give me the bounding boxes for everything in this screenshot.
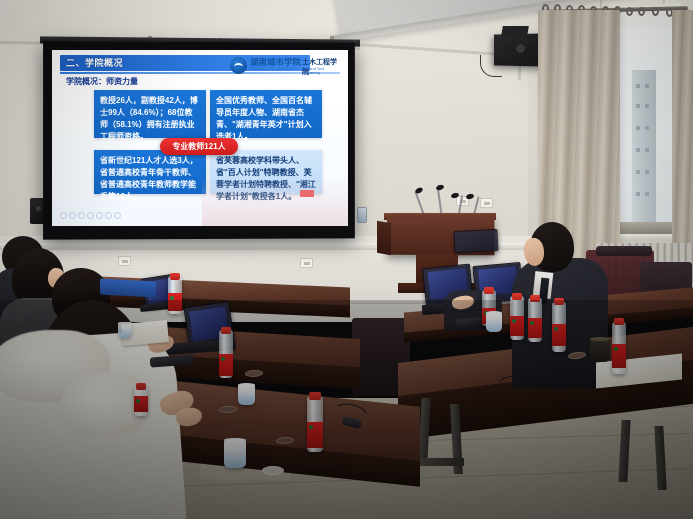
- dark-cup-rim: [590, 337, 610, 341]
- slide-block-top-right: 全国优秀教师、全国百名辅导员年度人物、湖南省杰青、"湖湘青年英才"计划入选者1人…: [210, 90, 322, 138]
- paper-cup[interactable]: [486, 312, 502, 332]
- slide-footer-icons: [60, 210, 140, 220]
- podium-side-panel: [377, 221, 391, 255]
- blue-binder[interactable]: [100, 279, 156, 298]
- bottle-label: [134, 396, 148, 412]
- paper-cup-rim: [224, 438, 246, 442]
- paper-cup[interactable]: [224, 440, 246, 468]
- bottle-cap: [512, 293, 522, 300]
- bottle-cap: [614, 318, 624, 325]
- curtain-right-panel[interactable]: [672, 10, 693, 260]
- speaker-cone-icon: [516, 44, 525, 53]
- bottle-cap: [136, 383, 146, 390]
- slide-title-tick: [185, 55, 190, 71]
- bottle-cap: [221, 327, 231, 334]
- wall-socket[interactable]: [480, 198, 493, 208]
- wall-socket[interactable]: [300, 258, 313, 268]
- bottle-label: [552, 324, 566, 346]
- slide-subtitle: 学院概况：师资力量: [66, 76, 138, 87]
- logo-name-en: HUNAN CITY UNIVERSITY: [250, 67, 299, 71]
- laptop-screen-far[interactable]: [453, 229, 498, 253]
- slide-decoration-chip: [300, 190, 314, 197]
- bottle-cap: [170, 273, 180, 280]
- university-logo: 湖南城市学院 HUNAN CITY UNIVERSITY 土木工程学院 Scho…: [230, 56, 342, 78]
- chair-back[interactable]: [596, 246, 652, 256]
- bottle-label: [219, 354, 233, 376]
- slide-block-bottom-left: 省新世纪121人才人选3人，省普通高校青年骨干教师、省普通高校青年教师教学能手等…: [94, 150, 206, 194]
- slide-block-top-left: 教授26人，副教授42人，博士99人（84.6%）；68位教师（58.1%）拥有…: [94, 90, 206, 138]
- university-emblem-icon: [230, 57, 247, 74]
- presentation-slide: 二、学院概况 学院概况：师资力量 湖南城市学院 HUNAN CITY UNIVE…: [52, 50, 348, 226]
- table-foot: [420, 458, 464, 466]
- bottle-cap: [530, 295, 540, 302]
- bottle-label: [612, 344, 626, 368]
- screen-remote-holder[interactable]: [357, 207, 367, 223]
- control-box-led-icon: [36, 206, 41, 211]
- bottle-label: [510, 316, 524, 336]
- wall-speaker-bracket: [501, 26, 529, 36]
- bottle-label: [528, 318, 542, 338]
- cup-lid[interactable]: [262, 466, 284, 475]
- bottle-label: [307, 422, 323, 448]
- building-outside: [632, 70, 656, 222]
- bottle-label: [168, 293, 182, 311]
- paper-cup[interactable]: [238, 384, 255, 405]
- wall-socket[interactable]: [118, 256, 131, 266]
- meeting-room-photo: 二、学院概况 学院概况：师资力量 湖南城市学院 HUNAN CITY UNIVE…: [0, 0, 693, 519]
- bottle-cap: [484, 287, 494, 294]
- slide-decoration: [202, 178, 348, 226]
- slide-title: 二、学院概况: [66, 56, 123, 69]
- paper-cup-rim: [486, 311, 502, 315]
- logo-dept-en: School of Civil Engineering: [302, 67, 342, 75]
- slide-center-badge: 专业教师121人: [160, 138, 238, 155]
- bottle-cap: [554, 298, 564, 305]
- paper-cup-rim: [238, 383, 255, 387]
- paper-cup[interactable]: [118, 322, 132, 338]
- dark-cup[interactable]: [590, 338, 610, 362]
- bottle-cap: [309, 392, 321, 400]
